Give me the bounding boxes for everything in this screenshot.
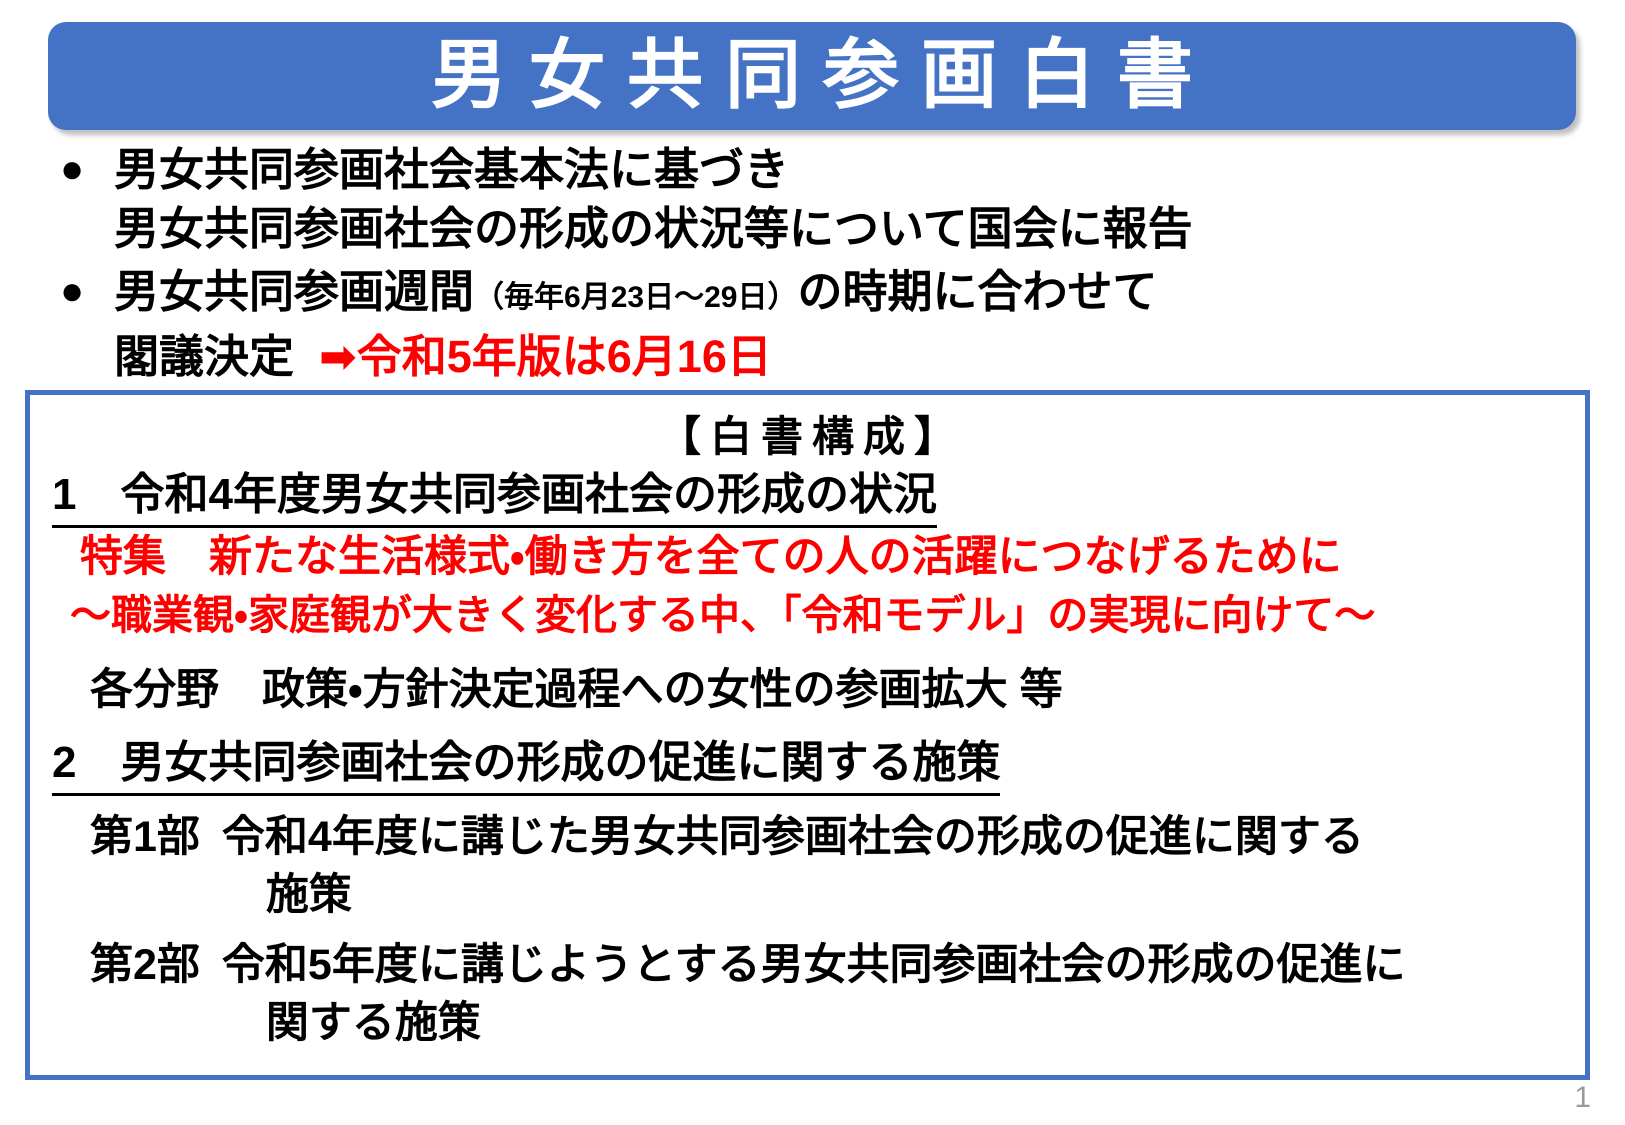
bullet-2-text-b: の時期に合わせて <box>797 266 1157 317</box>
part-2-text: 令和5年度に講じようとする男女共同参画社会の形成の促進に 関する施策 <box>222 936 1406 1052</box>
section-2-title-wrap: 2 男女共同参画社会の形成の促進に関する施策 <box>30 733 1585 796</box>
intro-bullet-list: ● 男女共同参画社会基本法に基づき 男女共同参画社会の形成の状況等について国会に… <box>60 140 1580 390</box>
bullet-dot-icon: ● <box>60 262 114 320</box>
cabinet-decision-label: 閣議決定 <box>114 331 294 382</box>
bullet-body: 男女共同参画週間（毎年6月23日～29日）の時期に合わせて 閣議決定 ➡令和5年… <box>114 262 1580 386</box>
section-1-title: 1 令和4年度男女共同参画社会の形成の状況 <box>52 465 937 528</box>
bullet-dot-icon: ● <box>60 140 114 198</box>
whitepaper-composition-box: 【白書構成】 1 令和4年度男女共同参画社会の形成の状況 特集 新たな生活様式・… <box>25 390 1590 1080</box>
bullet-2-line-1: 男女共同参画週間（毎年6月23日～29日）の時期に合わせて <box>114 262 1580 327</box>
bullet-2-parenthetical: （毎年6月23日～29日） <box>474 281 797 314</box>
list-item: 第1部 令和4年度に講じた男女共同参画社会の形成の促進に関する 施策 <box>90 808 1585 924</box>
reiwa5-release-date: 令和5年版は6月16日 <box>357 331 772 382</box>
part-2-text-line-2: 関する施策 <box>266 994 1406 1052</box>
section-1-fields-line: 各分野 政策・方針決定過程への女性の参画拡大 等 <box>90 661 1585 719</box>
bullet-2-text-a: 男女共同参画週間 <box>114 266 474 317</box>
section-1-title-wrap: 1 令和4年度男女共同参画社会の形成の状況 <box>30 465 1585 528</box>
bullet-1-line-2: 男女共同参画社会の形成の状況等について国会に報告 <box>114 199 1580 258</box>
list-item: ● 男女共同参画社会基本法に基づき 男女共同参画社会の形成の状況等について国会に… <box>60 140 1580 258</box>
section-2-title: 2 男女共同参画社会の形成の促進に関する施策 <box>52 733 1000 796</box>
list-item: ● 男女共同参画週間（毎年6月23日～29日）の時期に合わせて 閣議決定 ➡令和… <box>60 262 1580 386</box>
page-title: 男女共同参画白書 <box>409 38 1215 114</box>
bullet-body: 男女共同参画社会基本法に基づき 男女共同参画社会の形成の状況等について国会に報告 <box>114 140 1580 258</box>
section-1-feature-line-2: ～職業観・家庭観が大きく変化する中、「令和モデル」の実現に向けて～ <box>70 587 1585 643</box>
part-1-label: 第1部 <box>90 808 200 866</box>
slide-title-banner: 男女共同参画白書 <box>48 22 1576 130</box>
part-1-text-line-1: 令和4年度に講じた男女共同参画社会の形成の促進に関する <box>222 813 1364 861</box>
part-2-text-line-1: 令和5年度に講じようとする男女共同参画社会の形成の促進に <box>222 941 1406 989</box>
part-2-label: 第2部 <box>90 936 200 994</box>
bullet-1-line-1: 男女共同参画社会基本法に基づき <box>114 140 1580 199</box>
page-number: 1 <box>1574 1083 1591 1113</box>
list-item: 第2部 令和5年度に講じようとする男女共同参画社会の形成の促進に 関する施策 <box>90 936 1585 1052</box>
bullet-2-line-2: 閣議決定 ➡令和5年版は6月16日 <box>114 327 1580 386</box>
part-1-text: 令和4年度に講じた男女共同参画社会の形成の促進に関する 施策 <box>222 808 1364 924</box>
right-arrow-icon: ➡ <box>319 331 357 382</box>
part-1-text-line-2: 施策 <box>266 866 1364 924</box>
section-1-feature-line-1: 特集 新たな生活様式・働き方を全ての人の活躍につなげるために <box>80 528 1585 587</box>
composition-box-heading: 【白書構成】 <box>30 409 1585 465</box>
slide-canvas: 男女共同参画白書 ● 男女共同参画社会基本法に基づき 男女共同参画社会の形成の状… <box>0 0 1625 1125</box>
